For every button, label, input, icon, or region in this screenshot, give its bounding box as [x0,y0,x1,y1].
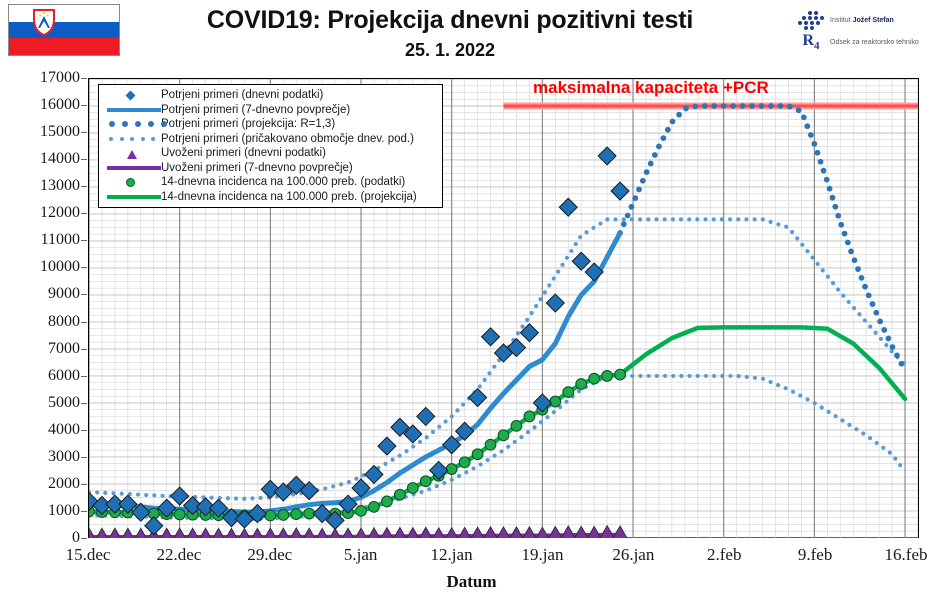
y-axis-tick-mark [81,294,87,295]
y-axis-tick-label: 16000 [6,96,80,114]
legend-item-label: Uvoženi primeri (dnevni podatki) [161,146,326,160]
y-axis-tick-mark [81,78,87,79]
y-axis-tick-label: 13000 [6,177,80,195]
x-axis-tick-label: 19.jan [497,545,587,565]
legend-line-icon [103,103,161,117]
y-axis-tick-mark [81,538,87,539]
y-axis-tick-label: 12000 [6,204,80,222]
slovenia-flag [8,4,120,56]
flag-band-blue [9,22,119,39]
legend-item-label: Potrjeni primeri (dnevni podatki) [161,88,323,102]
legend-item: 14-dnevna incidenca na 100.000 preb. (pr… [103,190,438,205]
y-axis-tick-mark [81,349,87,350]
x-axis-tick-label: 12.jan [407,545,497,565]
ijs-logo: Institut Jožef Stefan R4 Odsek za reakto… [798,6,938,56]
legend-dotted-small-icon [103,132,161,146]
x-axis-title: Datum [0,572,943,592]
legend-item: Potrjeni primeri (dnevni podatki) [103,88,438,103]
legend-dotted-large-icon [103,117,161,131]
y-axis-tick-mark [81,484,87,485]
y-axis-tick-label: 6000 [6,367,80,385]
x-axis-tick-label: 22.dec [134,545,224,565]
y-axis-tick-mark [81,105,87,106]
x-axis-tick-label: 9.feb [770,545,860,565]
y-axis-tick-label: 1000 [6,502,80,520]
ijs-dots-icon [798,10,824,30]
y-axis-tick-mark [81,457,87,458]
legend-circle-icon [103,175,161,189]
y-axis-tick-label: 17000 [6,69,80,87]
y-axis-tick-label: 3000 [6,448,80,466]
y-axis-tick-mark [81,376,87,377]
y-axis-tick-label: 2000 [6,475,80,493]
y-axis-tick-label: 11000 [6,231,80,249]
y-axis-tick-label: 9000 [6,285,80,303]
ijs-department-name: Odsek za reaktorsko tehniko [830,39,919,46]
legend-item-label: 14-dnevna incidenca na 100.000 preb. (pr… [161,190,417,204]
r4-mark-icon: R4 [798,32,824,52]
ijs-logo-line2: R4 Odsek za reaktorsko tehniko [798,32,919,52]
y-axis-tick-mark [81,186,87,187]
legend-line-icon [103,161,161,175]
x-axis-tick-label: 16.feb [861,545,943,565]
y-axis-tick-mark [81,240,87,241]
legend-item-label: Uvoženi primeri (7-dnevno povprečje) [161,161,353,175]
legend-line-icon [103,190,161,204]
y-axis-tick-label: 5000 [6,394,80,412]
ijs-institute-name: Institut Jožef Stefan [830,17,894,24]
x-axis-tick-label: 26.jan [588,545,678,565]
legend-diamond-icon [103,88,161,102]
flag-band-white [9,5,119,22]
page-title: COVID19: Projekcija dnevni pozitivni tes… [120,6,780,35]
legend-item: Potrjeni primeri (projekcija: R=1,3) [103,117,438,132]
x-axis-tick-label: 29.dec [225,545,315,565]
legend-triangle-icon [103,146,161,160]
flag-band-red [9,38,119,55]
legend-item: 14-dnevna incidenca na 100.000 preb. (po… [103,175,438,190]
capacity-annotation: maksimalna kapaciteta +PCR [533,78,769,98]
chart-legend: Potrjeni primeri (dnevni podatki)Potrjen… [98,84,443,208]
y-axis-tick-label: 8000 [6,313,80,331]
y-axis-tick-label: 10000 [6,258,80,276]
legend-item-label: Potrjeni primeri (projekcija: R=1,3) [161,117,335,131]
x-axis-tick-label: 5.jan [316,545,406,565]
y-axis-tick-mark [81,267,87,268]
slovenia-coat-of-arms-icon [31,7,57,37]
y-axis-tick-label: 7000 [6,340,80,358]
y-axis-tick-label: 15000 [6,123,80,141]
legend-item: Potrjeni primeri (7-dnevno povprečje) [103,103,438,118]
y-axis-tick-mark [81,159,87,160]
ijs-logo-line1: Institut Jožef Stefan [798,10,894,30]
legend-item: Uvoženi primeri (dnevni podatki) [103,146,438,161]
y-axis-tick-mark [81,403,87,404]
legend-item-label: Potrjeni primeri (pričakovano območje dn… [161,132,414,146]
y-axis-tick-mark [81,213,87,214]
page-subtitle: 25. 1. 2022 [120,40,780,61]
chart-plot-area: Potrjeni primeri (dnevni podatki)Potrjen… [88,78,919,538]
y-axis-tick-mark [81,430,87,431]
x-axis-tick-label: 15.dec [43,545,133,565]
y-axis-tick-mark [81,511,87,512]
legend-item-label: 14-dnevna incidenca na 100.000 preb. (po… [161,175,405,189]
y-axis-tick-label: 14000 [6,150,80,168]
x-axis-tick-label: 2.feb [679,545,769,565]
y-axis-tick-mark [81,132,87,133]
legend-item: Uvoženi primeri (7-dnevno povprečje) [103,161,438,176]
legend-item: Potrjeni primeri (pričakovano območje dn… [103,132,438,147]
legend-item-label: Potrjeni primeri (7-dnevno povprečje) [161,103,350,117]
y-axis-tick-mark [81,322,87,323]
y-axis-tick-label: 4000 [6,421,80,439]
